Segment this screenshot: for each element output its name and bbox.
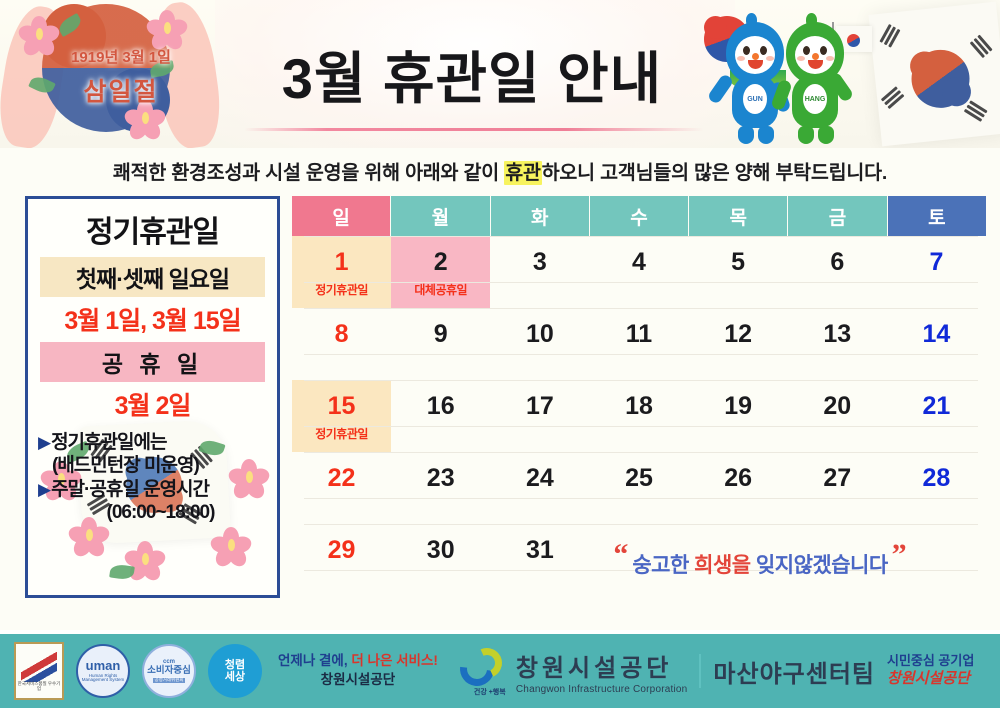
calendar-day-cell-2[interactable]: 2대체공휴일	[391, 236, 490, 308]
regular-closure-panel: 정기휴관일 첫째·셋째 일요일 3월 1일, 3월 15일 공 휴 일 3월 2…	[25, 196, 280, 598]
certification-ksqi: 한국서비스품질 우수기업	[14, 642, 64, 700]
calendar-day-number: 25	[625, 466, 653, 491]
footer-team-name: 마산야구센터팀	[713, 654, 875, 689]
calendar-day-number: 7	[929, 250, 943, 275]
certification-human-rights: uman Human Rights Management System	[76, 644, 130, 698]
panel-note-item: (배드민턴장 미운영)	[38, 455, 277, 477]
calendar-day-number: 1	[335, 250, 349, 275]
ksqi-label: 한국서비스품질 우수기업	[16, 682, 62, 692]
calendar-week-row: 1정기휴관일2대체공휴일34567	[292, 236, 986, 308]
calendar-row-rule	[304, 452, 978, 453]
calendar-day-cell-5[interactable]: 5	[689, 236, 788, 308]
footer-divider	[699, 654, 701, 688]
calendar-weekday-header-row: 일월화수목금토	[292, 196, 986, 236]
mascot-eye-right	[820, 46, 827, 55]
ci-name-english: Changwon Infrastructure Corporation	[516, 684, 688, 695]
poster-header: 1919년 3월 1일 삼일절 3월 휴관일 안내	[0, 0, 1000, 148]
mascot-face	[795, 36, 835, 74]
panel-note-item: (06:00~18:00)	[38, 502, 277, 524]
calendar-day-cell-6[interactable]: 6	[788, 236, 887, 308]
mascot-nose	[752, 53, 759, 60]
calendar-day-cell-30[interactable]: 30	[391, 524, 490, 596]
calendar-day-number: 27	[823, 466, 851, 491]
calendar-day-number: 16	[427, 394, 455, 419]
calendar-week-row: 15정기휴관일161718192021	[292, 380, 986, 452]
trigram-gon-icon	[963, 100, 988, 123]
calendar-day-number: 28	[923, 466, 951, 491]
calendar-day-number: 8	[335, 322, 349, 347]
notice-highlight: 휴관	[504, 161, 541, 185]
panel-note-item: ▶주말·공휴일 운영시간	[38, 479, 277, 501]
calendar-day-number: 26	[724, 466, 752, 491]
public-holiday-dates: 3월 2일	[28, 386, 277, 422]
calendar-day-number: 5	[731, 250, 745, 275]
trigram-ri-icon	[881, 86, 906, 110]
panel-note-text: 주말·공휴일 운영시간	[51, 479, 209, 500]
samiljeol-label: 1919년 3월 1일 삼일절	[46, 46, 196, 108]
samiljeol-date: 1919년 3월 1일	[46, 46, 196, 67]
mascot-eye-right	[760, 46, 767, 55]
panel-note-text: (배드민턴장 미운영)	[52, 455, 199, 476]
human-rights-badge-icon: uman Human Rights Management System	[76, 644, 130, 698]
calendar-day-number: 17	[526, 394, 554, 419]
calendar-day-cell-29[interactable]: 29	[292, 524, 391, 596]
calendar-body: 1정기휴관일2대체공휴일3456789101112131415정기휴관일1617…	[292, 236, 986, 596]
ci-text-block: 창원시설공단 Changwon Infrastructure Corporati…	[516, 648, 688, 695]
calendar-day-cell-18[interactable]: 18	[589, 380, 688, 452]
regular-closure-rule-band: 첫째·셋째 일요일	[40, 257, 265, 297]
triangle-bullet-icon: ▶	[38, 433, 50, 452]
calendar-day-number: 4	[632, 250, 646, 275]
notice-text-after: 하오니 고객님들의 많은 양해 부탁드립니다.	[542, 162, 887, 184]
mascot-cheek-left	[737, 56, 745, 61]
panel-content: 정기휴관일 첫째·셋째 일요일 3월 1일, 3월 15일 공 휴 일 3월 2…	[28, 199, 277, 525]
calendar-day-cell-13[interactable]: 13	[788, 308, 887, 380]
memorial-quote: “숭고한 희생을 잊지않겠습니다”	[560, 536, 960, 592]
quote-part-3: 잊지않겠습니다	[751, 554, 888, 577]
korean-flag-illustration	[868, 2, 1000, 147]
title-container: 3월 휴관일 안내	[232, 26, 712, 122]
calendar-row-rule	[304, 498, 978, 499]
calendar-day-tag: 정기휴관일	[315, 425, 368, 442]
calendar-day-cell-19[interactable]: 19	[689, 380, 788, 452]
calendar-day-number: 24	[526, 466, 554, 491]
ci-tagline: 건강 +행복	[474, 689, 506, 696]
calendar-week-row: 22232425262728	[292, 452, 986, 524]
mascot-leg-left	[798, 126, 814, 144]
calendar-day-number: 14	[923, 322, 951, 347]
calendar-day-cell-14[interactable]: 14	[887, 308, 986, 380]
calendar-day-number: 18	[625, 394, 653, 419]
badge-line1: 시민중심 공기업	[887, 654, 974, 669]
title-underline-rule	[244, 128, 704, 131]
mascot-eye-left	[743, 46, 750, 55]
calendar-day-cell-25[interactable]: 25	[589, 452, 688, 524]
certification-clean-world: 청렴 세상	[208, 644, 262, 698]
ci-name-korean: 창원시설공단	[516, 648, 688, 683]
calendar-day-cell-8[interactable]: 8	[292, 308, 391, 380]
calendar-day-cell-28[interactable]: 28	[887, 452, 986, 524]
calendar-day-number: 12	[724, 322, 752, 347]
ccm-authority: 공정거래위원회	[153, 678, 186, 683]
calendar-day-number: 11	[626, 322, 652, 347]
calendar-day-cell-27[interactable]: 27	[788, 452, 887, 524]
calendar-day-cell-16[interactable]: 16	[391, 380, 490, 452]
ccm-badge-icon: ccm 소비자중심 공정거래위원회	[142, 644, 196, 698]
calendar-row-rule	[304, 354, 978, 355]
trigram-gam-icon	[968, 35, 992, 60]
calendar-day-number: 15	[328, 394, 356, 419]
calendar-day-number: 23	[427, 466, 455, 491]
taeguk-circle-icon	[909, 47, 973, 111]
calendar-weekday-wd-5: 금	[787, 196, 886, 236]
calendar-day-number: 30	[427, 538, 455, 563]
march-calendar: 일월화수목금토 1정기휴관일2대체공휴일3456789101112131415정…	[292, 196, 986, 600]
ksqi-badge-icon: 한국서비스품질 우수기업	[14, 642, 64, 700]
hibiscus-flower-icon	[214, 527, 248, 561]
certification-ccm: ccm 소비자중심 공정거래위원회	[142, 644, 196, 698]
samiljeol-name: 삼일절	[46, 72, 196, 108]
mascot-arm-left	[707, 73, 735, 105]
quote-open-mark: “	[613, 540, 628, 570]
slogan-part-b: 더 나은 서비스!	[348, 653, 438, 668]
calendar-day-cell-17[interactable]: 17	[490, 380, 589, 452]
calendar-row-rule	[304, 426, 978, 427]
calendar-weekday-sun-0: 일	[292, 196, 390, 236]
mascot-nose	[812, 53, 819, 60]
mascot-leg-right	[818, 126, 834, 144]
calendar-day-cell-12[interactable]: 12	[689, 308, 788, 380]
calendar-day-number: 9	[434, 322, 448, 347]
panel-notes-list: ▶정기휴관일에는 (배드민턴장 미운영) ▶주말·공휴일 운영시간 (06:00…	[38, 432, 277, 525]
calendar-day-cell-24[interactable]: 24	[490, 452, 589, 524]
calendar-day-number: 29	[328, 538, 356, 563]
ksqi-swoosh-icon	[21, 652, 57, 682]
hibiscus-flower-icon	[22, 16, 56, 50]
mascot-cheek-right	[766, 56, 774, 61]
notice-bar: 쾌적한 환경조성과 시설 운영을 위해 아래와 같이 휴관하오니 고객님들의 많…	[0, 150, 1000, 190]
badge-line2: 창원시설공단	[887, 670, 974, 687]
slogan-part-a: 언제나 곁에,	[278, 653, 348, 668]
calendar-weekday-sat-6: 토	[887, 196, 986, 236]
mascot-cheek-left	[797, 56, 805, 61]
poster-footer: 한국서비스품질 우수기업 uman Human Rights Managemen…	[0, 630, 1000, 708]
calendar-week-row: 891011121314	[292, 308, 986, 380]
calendar-day-cell-4[interactable]: 4	[589, 236, 688, 308]
calendar-day-cell-26[interactable]: 26	[689, 452, 788, 524]
calendar-weekday-wd-2: 화	[490, 196, 589, 236]
calendar-day-number: 10	[526, 322, 554, 347]
quote-text: 숭고한 희생을 잊지않겠습니다	[632, 549, 887, 579]
mascot-name-badge: HANG	[803, 84, 827, 114]
calendar-day-cell-10[interactable]: 10	[490, 308, 589, 380]
calendar-row-rule	[304, 308, 978, 309]
calendar-row-rule	[304, 236, 978, 237]
human-rights-sub: Human Rights Management System	[78, 674, 128, 683]
clean-world-line1: 청렴	[225, 659, 245, 671]
mascot-name-badge: GUN	[743, 84, 767, 114]
hibiscus-flower-icon	[150, 10, 184, 44]
calendar-day-cell-20[interactable]: 20	[788, 380, 887, 452]
calendar-day-cell-23[interactable]: 23	[391, 452, 490, 524]
panel-note-item: ▶정기휴관일에는	[38, 432, 277, 454]
calendar-day-cell-1[interactable]: 1정기휴관일	[292, 236, 391, 308]
mascot-mouth	[808, 60, 823, 69]
quote-part-2: 희생을	[694, 554, 750, 577]
triangle-bullet-icon: ▶	[38, 480, 50, 499]
panel-title: 정기휴관일	[28, 207, 277, 251]
mascot-hang: HANG	[778, 22, 852, 144]
calendar-day-cell-11[interactable]: 11	[589, 308, 688, 380]
calendar-weekday-wd-4: 목	[688, 196, 787, 236]
calendar-day-tag: 정기휴관일	[315, 281, 368, 298]
calendar-day-number: 19	[724, 394, 752, 419]
calendar-row-rule	[304, 524, 978, 525]
panel-note-text: (06:00~18:00)	[107, 502, 215, 523]
clean-world-line2: 세상	[225, 671, 245, 683]
calendar-weekday-wd-3: 수	[589, 196, 688, 236]
quote-close-mark: ”	[892, 540, 907, 570]
samiljeol-artwork: 1919년 3월 1일 삼일절	[0, 0, 232, 148]
notice-text: 쾌적한 환경조성과 시설 운영을 위해 아래와 같이 휴관하오니 고객님들의 많…	[113, 156, 887, 185]
mascot-mouth	[748, 60, 763, 69]
trigram-geon-icon	[879, 24, 902, 49]
calendar-row-rule	[304, 380, 978, 381]
page-title: 3월 휴관일 안내	[282, 34, 662, 115]
mascot-cheek-right	[826, 56, 834, 61]
mascot-eye-left	[803, 46, 810, 55]
notice-text-before: 쾌적한 환경조성과 시설 운영을 위해 아래와 같이	[113, 162, 504, 184]
regular-closure-dates: 3월 1일, 3월 15일	[28, 301, 277, 337]
panel-note-text: 정기휴관일에는	[51, 432, 166, 453]
mascot-face	[735, 36, 775, 74]
calendar-day-number: 20	[823, 394, 851, 419]
calendar-day-number: 6	[830, 250, 844, 275]
header-right-artwork: GUN HANG	[700, 0, 1000, 148]
poster-root: 1919년 3월 1일 삼일절 3월 휴관일 안내	[0, 0, 1000, 708]
calendar-day-number: 2	[434, 250, 448, 275]
calendar-day-cell-22[interactable]: 22	[292, 452, 391, 524]
calendar-day-number: 31	[526, 538, 554, 563]
calendar-day-cell-21[interactable]: 21	[887, 380, 986, 452]
footer-slogan-line2: 창원시설공단	[278, 672, 438, 689]
quote-part-1: 숭고한	[632, 554, 694, 577]
calendar-day-number: 22	[328, 466, 356, 491]
footer-slogan: 언제나 곁에, 더 나은 서비스! 창원시설공단	[278, 653, 438, 689]
calendar-week-row: 293031“숭고한 희생을 잊지않겠습니다”	[292, 524, 986, 596]
calendar-day-number: 13	[823, 322, 851, 347]
public-holiday-band: 공 휴 일	[40, 342, 265, 382]
calendar-day-cell-9[interactable]: 9	[391, 308, 490, 380]
footer-public-enterprise-badge: 시민중심 공기업 창원시설공단	[887, 654, 974, 687]
footer-corporate-identity: 건강 +행복 창원시설공단 Changwon Infrastructure Co…	[460, 646, 688, 696]
calendar-day-number: 21	[923, 394, 951, 419]
mascot-leg-left	[738, 126, 754, 144]
changwon-ci-logo-icon: 건강 +행복	[460, 646, 508, 696]
calendar-day-cell-7[interactable]: 7	[887, 236, 986, 308]
ccm-title: 소비자중심	[147, 666, 191, 676]
human-rights-mark: uman	[86, 659, 121, 673]
calendar-day-number: 3	[533, 250, 547, 275]
calendar-day-cell-15[interactable]: 15정기휴관일	[292, 380, 391, 452]
calendar-weekday-wd-1: 월	[390, 196, 489, 236]
mascot-leg-right	[758, 126, 774, 144]
footer-slogan-line1: 언제나 곁에, 더 나은 서비스!	[278, 653, 438, 670]
calendar-row-rule	[304, 282, 978, 283]
calendar-day-cell-3[interactable]: 3	[490, 236, 589, 308]
calendar-day-tag: 대체공휴일	[414, 281, 467, 298]
clean-world-badge-icon: 청렴 세상	[208, 644, 262, 698]
